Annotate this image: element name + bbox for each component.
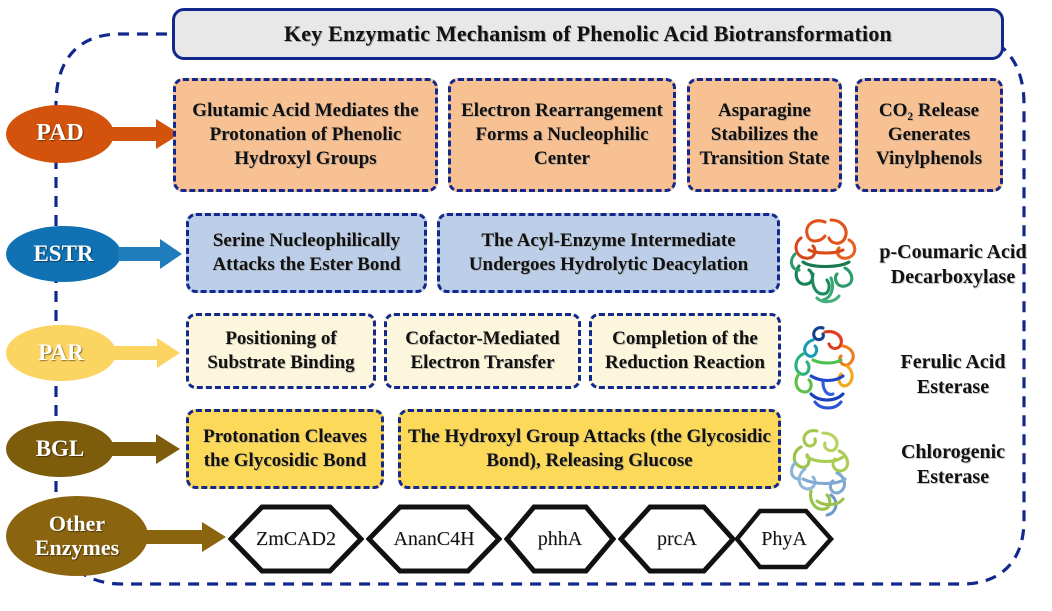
step-box-par-2-label: Cofactor-Mediated Electron Transfer [393, 327, 572, 375]
enzyme-node-estr[interactable]: ESTR [6, 226, 121, 282]
arrow-pad [112, 117, 182, 151]
arrow-par [112, 337, 182, 369]
hexagon-zmcad2-label: ZmCAD2 [228, 528, 364, 551]
step-box-pad-1[interactable]: Glutamic Acid Mediates the Protonation o… [173, 78, 438, 192]
step-box-pad-1-label: Glutamic Acid Mediates the Protonation o… [182, 99, 429, 171]
enzyme-node-par-label: PAR [38, 341, 84, 366]
step-box-pad-3[interactable]: Asparagine Stabilizes the Transition Sta… [687, 78, 842, 192]
step-box-pad-4-label: CO₂ Release Generates Vinylphenols [864, 99, 994, 171]
protein-ribbon-icon-chlorogenic-esterase [787, 425, 865, 517]
enzyme-node-other-enzymes-label-line1: Other [49, 512, 105, 536]
protein-label-line2: Esterase [864, 375, 1042, 400]
step-box-pad-4[interactable]: CO₂ Release Generates Vinylphenols [855, 78, 1003, 192]
enzyme-node-bgl[interactable]: BGL [6, 421, 114, 477]
protein-label-line1: Chlorogenic [864, 440, 1042, 465]
page-title: Key Enzymatic Mechanism of Phenolic Acid… [284, 21, 892, 47]
protein-ribbon-icon-p-coumaric-acid-decarboxylase [787, 214, 865, 306]
step-box-bgl-2[interactable]: The Hydroxyl Group Attacks (the Glycosid… [398, 409, 781, 489]
hexagon-phya[interactable]: PhyA [734, 508, 834, 570]
protein-label-ferulic-acid-esterase: Ferulic Acid Esterase [864, 350, 1042, 400]
step-box-par-2[interactable]: Cofactor-Mediated Electron Transfer [384, 313, 581, 389]
step-box-bgl-2-label: The Hydroxyl Group Attacks (the Glycosid… [407, 425, 772, 473]
step-box-estr-2[interactable]: The Acyl-Enzyme Intermediate Undergoes H… [437, 213, 780, 293]
step-box-par-3[interactable]: Completion of the Reduction Reaction [589, 313, 781, 389]
enzyme-node-pad-label: PAD [36, 121, 84, 147]
protein-label-p-coumaric-acid-decarboxylase: p-Coumaric Acid Decarboxylase [864, 240, 1042, 290]
step-box-estr-1[interactable]: Serine Nucleophilically Attacks the Este… [186, 213, 427, 293]
hexagon-phha[interactable]: phhA [504, 503, 616, 575]
enzyme-node-other-enzymes-label-line2: Enzymes [35, 536, 119, 560]
arrow-other-enzymes [140, 521, 228, 553]
protein-label-line2: Decarboxylase [864, 265, 1042, 290]
enzyme-node-pad[interactable]: PAD [6, 105, 114, 163]
hexagon-ananc4h-label: AnanC4H [366, 528, 502, 551]
step-box-par-3-label: Completion of the Reduction Reaction [598, 327, 772, 375]
hexagon-phya-label: PhyA [734, 528, 834, 551]
protein-ribbon-icon-ferulic-acid-esterase [789, 324, 865, 412]
enzyme-node-par[interactable]: PAR [6, 325, 116, 381]
diagram-title-box: Key Enzymatic Mechanism of Phenolic Acid… [172, 8, 1004, 60]
hexagon-phha-label: phhA [504, 528, 616, 551]
arrow-bgl [110, 433, 182, 465]
enzyme-node-bgl-label: BGL [36, 437, 85, 462]
enzyme-node-estr-label: ESTR [33, 242, 93, 267]
step-box-pad-2-label: Electron Rearrangement Forms a Nucleophi… [457, 99, 667, 171]
step-box-par-1-label: Positioning of Substrate Binding [195, 327, 367, 375]
arrow-estr [118, 238, 184, 270]
step-box-estr-1-label: Serine Nucleophilically Attacks the Este… [195, 229, 418, 277]
hexagon-prca[interactable]: prcA [618, 503, 736, 575]
step-box-pad-2[interactable]: Electron Rearrangement Forms a Nucleophi… [448, 78, 676, 192]
hexagon-ananc4h[interactable]: AnanC4H [366, 503, 502, 575]
protein-label-line1: p-Coumaric Acid [864, 240, 1042, 265]
hexagon-prca-label: prcA [618, 528, 736, 551]
protein-label-chlorogenic-esterase: Chlorogenic Esterase [864, 440, 1042, 490]
step-box-bgl-1[interactable]: Protonation Cleaves the Glycosidic Bond [186, 409, 384, 489]
step-box-estr-2-label: The Acyl-Enzyme Intermediate Undergoes H… [446, 229, 771, 277]
protein-label-line2: Esterase [864, 465, 1042, 490]
step-box-par-1[interactable]: Positioning of Substrate Binding [186, 313, 376, 389]
step-box-bgl-1-label: Protonation Cleaves the Glycosidic Bond [195, 425, 375, 473]
diagram-canvas: Key Enzymatic Mechanism of Phenolic Acid… [0, 0, 1052, 611]
protein-label-line1: Ferulic Acid [864, 350, 1042, 375]
hexagon-zmcad2[interactable]: ZmCAD2 [228, 503, 364, 575]
step-box-pad-3-label: Asparagine Stabilizes the Transition Sta… [696, 99, 833, 171]
enzyme-node-other-enzymes[interactable]: Other Enzymes [6, 496, 148, 576]
